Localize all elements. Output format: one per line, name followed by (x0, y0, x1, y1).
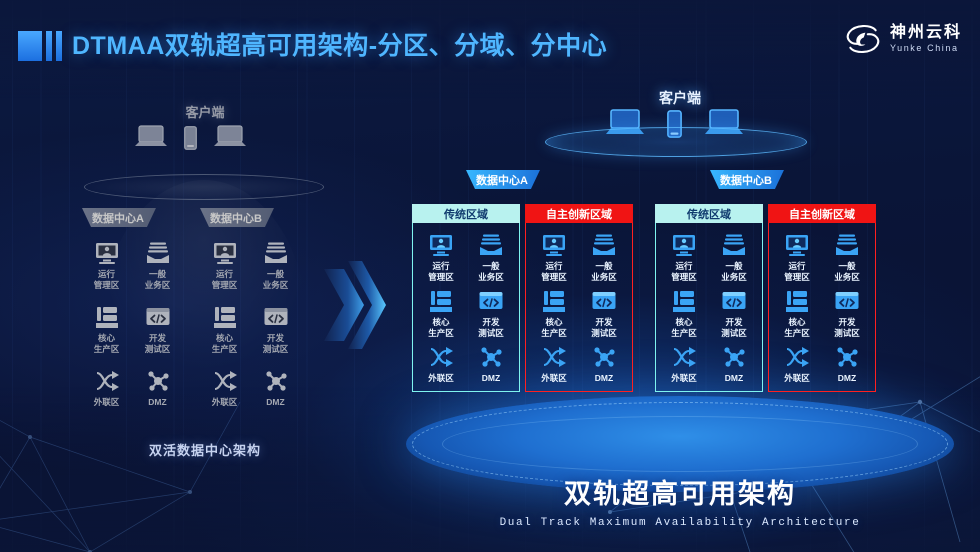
crossing-arrows-icon (94, 368, 120, 394)
area-label: 核心 生产区 (428, 317, 454, 338)
area-cell: 外联区 (660, 344, 708, 384)
area-cell: 一般 业务区 (823, 232, 871, 282)
left-client-devices (134, 124, 247, 150)
area-label: 运行 管理区 (784, 261, 810, 282)
legacy-architecture-panel: 客户端 数据中心A 数据中心B 运行 管理区 (60, 96, 350, 456)
area-label: 核心 生产区 (784, 317, 810, 338)
area-cell: 一般 业务区 (710, 232, 758, 282)
dtmaa-architecture-panel: 客户端 数据中心A 数据中心B 传统区域 (390, 80, 970, 550)
left-a-area-3: 核心 生产区 (82, 304, 131, 354)
left-b-area-4-label: 开发 测试区 (263, 333, 289, 354)
brand-logo: 神州云科 Yunke China (844, 22, 962, 56)
left-a-area-6: DMZ (133, 368, 182, 408)
area-cell: 外联区 (773, 344, 821, 384)
server-stack-icon (94, 304, 120, 330)
area-cell: DMZ (823, 344, 871, 384)
area-cell: 核心 生产区 (417, 288, 465, 338)
network-nodes-icon (478, 344, 504, 370)
left-a-area-4: 开发 测试区 (133, 304, 182, 354)
right-dc-b-traditional-zone: 传统区域 运行 管理区 一般 业务区 核心 生产区 开发 测试区 (655, 204, 763, 392)
inbox-tray-icon (591, 232, 617, 258)
title-accent-bars (18, 29, 62, 61)
area-label: 开发 测试区 (478, 317, 504, 338)
right-dc-a-traditional-header: 传统区域 (412, 204, 520, 223)
left-b-area-5-label: 外联区 (212, 397, 238, 408)
area-cell: 开发 测试区 (823, 288, 871, 338)
area-label: 一般 业务区 (721, 261, 747, 282)
crossing-arrows-icon (541, 344, 567, 370)
left-b-area-2: 一般 业务区 (251, 240, 300, 290)
left-dc-badge-b: 数据中心B (200, 208, 274, 227)
area-cell: 运行 管理区 (660, 232, 708, 282)
crossing-arrows-icon (671, 344, 697, 370)
galaxy-spiral-logo-icon (844, 22, 882, 56)
area-cell: 外联区 (417, 344, 465, 384)
area-cell: 运行 管理区 (773, 232, 821, 282)
phone-icon (184, 126, 197, 150)
crossing-arrows-icon (212, 368, 238, 394)
area-label: 运行 管理区 (428, 261, 454, 282)
network-nodes-icon (834, 344, 860, 370)
server-stack-icon (212, 304, 238, 330)
area-label: 一般 业务区 (478, 261, 504, 282)
area-label: 外联区 (428, 373, 454, 384)
left-b-area-1: 运行 管理区 (200, 240, 249, 290)
left-b-area-2-label: 一般 业务区 (263, 269, 289, 290)
area-label: 一般 业务区 (834, 261, 860, 282)
architecture-title-cn: 双轨超高可用架构 (390, 472, 970, 511)
right-dc-b-innovation-header: 自主创新区域 (768, 204, 876, 223)
logo-name-cn: 神州云科 (890, 25, 962, 41)
network-nodes-icon (145, 368, 171, 394)
code-window-icon (145, 304, 171, 330)
area-cell: DMZ (580, 344, 628, 384)
right-client-label: 客户端 (390, 88, 970, 108)
area-cell: 一般 业务区 (467, 232, 515, 282)
laptop-icon (213, 124, 247, 150)
inbox-tray-icon (721, 232, 747, 258)
area-label: 开发 测试区 (721, 317, 747, 338)
area-cell: 运行 管理区 (530, 232, 578, 282)
left-client-label: 客户端 (60, 102, 350, 121)
left-dc-b-areas: 运行 管理区 一般 业务区 核心 生产区 开发 测试区 外联区 (196, 236, 304, 415)
architecture-title-block: 双轨超高可用架构 Dual Track Maximum Availability… (390, 472, 970, 529)
left-b-area-3-label: 核心 生产区 (212, 333, 238, 354)
server-stack-icon (428, 288, 454, 314)
left-b-area-6-label: DMZ (266, 397, 284, 408)
left-a-area-6-label: DMZ (148, 397, 166, 408)
area-cell: 核心 生产区 (773, 288, 821, 338)
left-panel-caption: 双活数据中心架构 (60, 440, 350, 459)
left-b-area-6: DMZ (251, 368, 300, 408)
left-dc-badge-a: 数据中心A (82, 208, 156, 227)
right-dc-a-innovation-header: 自主创新区域 (525, 204, 633, 223)
laptop-icon (134, 124, 168, 150)
area-cell: 一般 业务区 (580, 232, 628, 282)
area-label: 一般 业务区 (591, 261, 617, 282)
area-label: 外联区 (784, 373, 810, 384)
area-label: DMZ (725, 373, 743, 384)
right-dc-b-traditional-header: 传统区域 (655, 204, 763, 223)
area-cell: 核心 生产区 (660, 288, 708, 338)
area-cell: 开发 测试区 (710, 288, 758, 338)
left-b-area-1-label: 运行 管理区 (212, 269, 238, 290)
area-label: 开发 测试区 (591, 317, 617, 338)
inbox-tray-icon (145, 240, 171, 266)
area-label: 核心 生产区 (671, 317, 697, 338)
right-platform-ellipse (545, 127, 807, 157)
monitor-person-icon (671, 232, 697, 258)
left-b-area-3: 核心 生产区 (200, 304, 249, 354)
area-label: 开发 测试区 (834, 317, 860, 338)
slide-header: DTMAA双轨超高可用架构-分区、分域、分中心 神州云科 Yunke China (0, 0, 980, 84)
page-title: DTMAA双轨超高可用架构-分区、分域、分中心 (72, 26, 607, 62)
left-a-area-4-label: 开发 测试区 (145, 333, 171, 354)
area-label: DMZ (838, 373, 856, 384)
left-platform-ellipse (84, 174, 324, 200)
right-stage-ring-inner (442, 416, 918, 472)
server-stack-icon (541, 288, 567, 314)
left-b-area-5: 外联区 (200, 368, 249, 408)
left-a-area-2: 一般 业务区 (133, 240, 182, 290)
inbox-tray-icon (834, 232, 860, 258)
area-label: 核心 生产区 (541, 317, 567, 338)
code-window-icon (478, 288, 504, 314)
monitor-person-icon (541, 232, 567, 258)
right-dc-a-innovation-zone: 自主创新区域 运行 管理区 一般 业务区 核心 生产区 开发 测试区 (525, 204, 633, 392)
inbox-tray-icon (263, 240, 289, 266)
area-cell: 运行 管理区 (417, 232, 465, 282)
area-label: 外联区 (541, 373, 567, 384)
area-cell: 开发 测试区 (467, 288, 515, 338)
area-label: DMZ (482, 373, 500, 384)
left-a-area-3-label: 核心 生产区 (94, 333, 120, 354)
code-window-icon (263, 304, 289, 330)
left-a-area-1: 运行 管理区 (82, 240, 131, 290)
code-window-icon (591, 288, 617, 314)
left-a-area-5-label: 外联区 (94, 397, 120, 408)
area-label: DMZ (595, 373, 613, 384)
network-nodes-icon (721, 344, 747, 370)
area-cell: DMZ (467, 344, 515, 384)
code-window-icon (721, 288, 747, 314)
area-cell: 开发 测试区 (580, 288, 628, 338)
double-chevron-right-icon (322, 253, 388, 357)
crossing-arrows-icon (428, 344, 454, 370)
area-label: 外联区 (671, 373, 697, 384)
monitor-person-icon (428, 232, 454, 258)
left-dc-a-areas: 运行 管理区 一般 业务区 核心 生产区 开发 测试区 外联区 (78, 236, 186, 415)
inbox-tray-icon (478, 232, 504, 258)
server-stack-icon (784, 288, 810, 314)
architecture-title-en: Dual Track Maximum Availability Architec… (390, 517, 970, 529)
left-a-area-1-label: 运行 管理区 (94, 269, 120, 290)
server-stack-icon (671, 288, 697, 314)
slide-canvas: DTMAA双轨超高可用架构-分区、分域、分中心 神州云科 Yunke China… (0, 0, 980, 552)
area-cell: DMZ (710, 344, 758, 384)
code-window-icon (834, 288, 860, 314)
monitor-person-icon (212, 240, 238, 266)
crossing-arrows-icon (784, 344, 810, 370)
right-dc-b-innovation-zone: 自主创新区域 运行 管理区 一般 业务区 核心 生产区 开发 测试区 (768, 204, 876, 392)
right-dc-a-traditional-zone: 传统区域 运行 管理区 一般 业务区 核心 生产区 开发 测试区 (412, 204, 520, 392)
area-cell: 外联区 (530, 344, 578, 384)
left-a-area-5: 外联区 (82, 368, 131, 408)
right-dc-badge-b: 数据中心B (710, 170, 784, 189)
monitor-person-icon (784, 232, 810, 258)
network-nodes-icon (263, 368, 289, 394)
left-a-area-2-label: 一般 业务区 (145, 269, 171, 290)
right-dc-badge-a: 数据中心A (466, 170, 540, 189)
monitor-person-icon (94, 240, 120, 266)
area-label: 运行 管理区 (541, 261, 567, 282)
area-label: 运行 管理区 (671, 261, 697, 282)
network-nodes-icon (591, 344, 617, 370)
left-b-area-4: 开发 测试区 (251, 304, 300, 354)
logo-name-en: Yunke China (890, 44, 962, 53)
area-cell: 核心 生产区 (530, 288, 578, 338)
